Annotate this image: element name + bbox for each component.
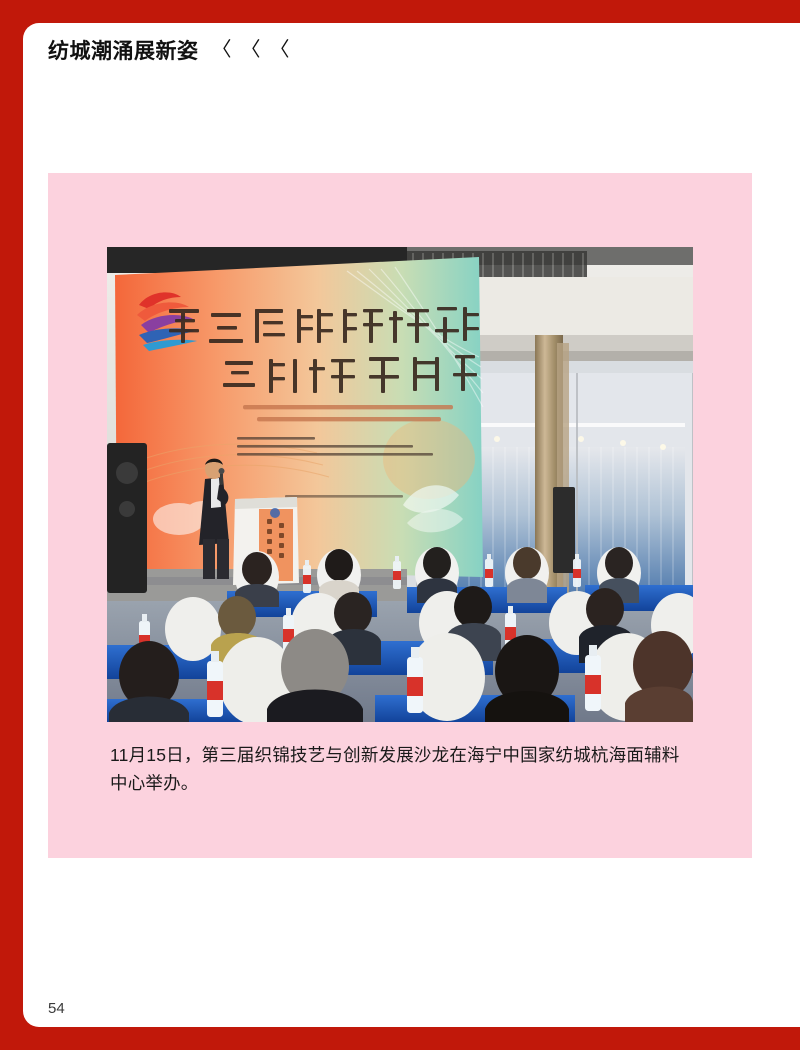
chevron-left-icon-2: 〈 [241,40,261,60]
red-top-border [0,0,800,23]
photo-caption: 11月15日，第三届织锦技艺与创新发展沙龙在海宁中国家纺城杭海面辅料中心举办。 [110,741,686,798]
magazine-page: 纺城潮涌展新姿 〈 〈 〈 [0,0,800,1050]
page-title: 纺城潮涌展新姿 [48,35,199,65]
event-photo-illustration [107,247,693,722]
chevron-left-icon-1: 〈 [212,40,232,60]
red-left-border [0,0,23,1050]
page-number: 54 [48,1000,65,1017]
event-photo [107,247,693,722]
page-header: 纺城潮涌展新姿 〈 〈 〈 [48,35,290,65]
chevron-group: 〈 〈 〈 [212,40,290,60]
chevron-left-icon-3: 〈 [270,40,290,60]
red-bottom-border [0,1027,800,1050]
article-card: 11月15日，第三届织锦技艺与创新发展沙龙在海宁中国家纺城杭海面辅料中心举办。 [48,173,752,858]
